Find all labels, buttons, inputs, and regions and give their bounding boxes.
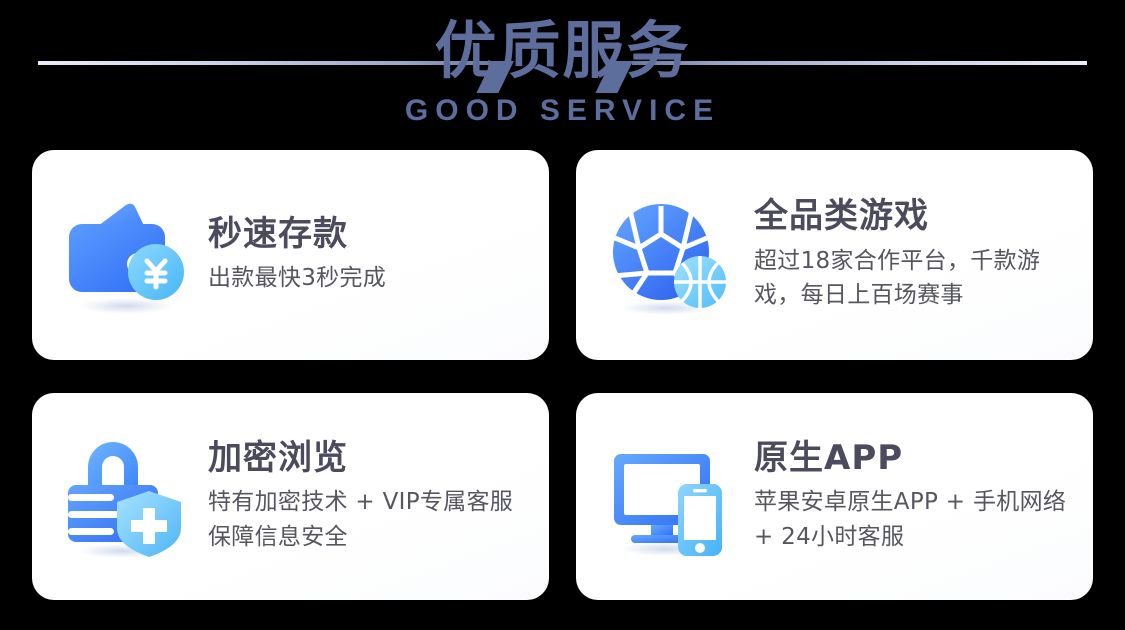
- card-text-block: 秒速存款 出款最快3秒完成: [208, 215, 549, 296]
- page-header: 优质服务 GOOD SERVICE: [0, 0, 1125, 150]
- card-description: 特有加密技术 + VIP专属客服保障信息安全: [208, 485, 535, 554]
- service-card-grid: 秒速存款 出款最快3秒完成: [32, 150, 1093, 600]
- header-title-block: 优质服务 GOOD SERVICE: [0, 0, 1125, 126]
- service-card-games[interactable]: 全品类游戏 超过18家合作平台，千款游戏，每日上百场赛事: [576, 150, 1093, 360]
- card-text-block: 加密浏览 特有加密技术 + VIP专属客服保障信息安全: [208, 439, 549, 554]
- card-description: 超过18家合作平台，千款游戏，每日上百场赛事: [754, 244, 1079, 313]
- card-description: 出款最快3秒完成: [208, 261, 535, 296]
- monitor-phone-icon: [606, 432, 736, 562]
- card-title: 加密浏览: [208, 439, 535, 477]
- card-text-block: 原生APP 苹果安卓原生APP + 手机网络 + 24小时客服: [754, 439, 1093, 554]
- service-card-deposit[interactable]: 秒速存款 出款最快3秒完成: [32, 150, 549, 360]
- card-title: 秒速存款: [208, 215, 535, 253]
- card-title: 全品类游戏: [754, 197, 1079, 235]
- card-text-block: 全品类游戏 超过18家合作平台，千款游戏，每日上百场赛事: [754, 197, 1093, 312]
- card-title: 原生APP: [754, 439, 1079, 477]
- lock-shield-icon: [60, 432, 190, 562]
- wallet-yen-icon: [60, 190, 190, 320]
- service-card-encryption[interactable]: 加密浏览 特有加密技术 + VIP专属客服保障信息安全: [32, 393, 549, 600]
- card-description: 苹果安卓原生APP + 手机网络 + 24小时客服: [754, 485, 1079, 554]
- service-card-native-app[interactable]: 原生APP 苹果安卓原生APP + 手机网络 + 24小时客服: [576, 393, 1093, 600]
- page-subtitle: GOOD SERVICE: [0, 96, 1125, 126]
- soccer-basketball-icon: [606, 190, 736, 320]
- page-title: 优质服务: [0, 0, 1125, 92]
